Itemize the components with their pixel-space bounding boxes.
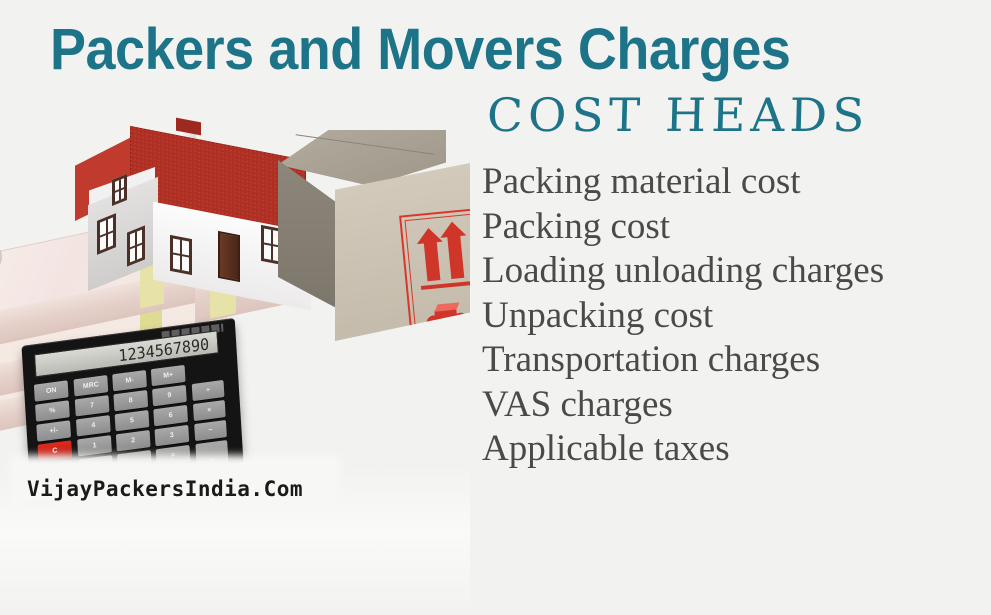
calc-key-m-[interactable]: M- <box>112 370 147 391</box>
calc-key-x[interactable]: % <box>35 400 70 421</box>
calc-key-6[interactable]: 6 <box>153 405 188 426</box>
cost-heads-list: Packing material costPacking costLoading… <box>482 160 987 472</box>
cost-head-item: VAS charges <box>482 383 987 428</box>
cost-head-item: Loading unloading charges <box>482 249 987 294</box>
calc-key-2[interactable]: 2 <box>116 430 151 451</box>
calc-key-9[interactable]: 9 <box>152 385 187 406</box>
cost-head-item: Unpacking cost <box>482 294 987 339</box>
calc-key-3[interactable]: 3 <box>155 425 190 446</box>
calc-key-x[interactable]: − <box>194 420 227 441</box>
artwork-group: 50 <box>0 110 470 505</box>
front-door <box>218 231 240 282</box>
calc-key-5[interactable]: 5 <box>115 410 150 431</box>
box-left-face <box>278 160 340 310</box>
page-title: Packers and Movers Charges <box>50 18 887 82</box>
calc-key-7[interactable]: 7 <box>75 395 110 416</box>
calc-key-mrc[interactable]: MRC <box>74 375 109 396</box>
calc-key-4[interactable]: 4 <box>76 415 111 436</box>
cost-head-item: Packing cost <box>482 205 987 250</box>
calc-key-x[interactable]: ÷ <box>192 380 225 401</box>
page-subtitle: COST HEADS <box>486 88 967 142</box>
window-front-1 <box>170 235 192 275</box>
calc-key-m+[interactable]: M+ <box>151 365 186 386</box>
calc-key-8[interactable]: 8 <box>113 390 148 411</box>
cost-head-item: Applicable taxes <box>482 427 987 472</box>
cost-head-item: Packing material cost <box>482 160 987 205</box>
calc-key-+x-[interactable]: +/- <box>36 420 71 441</box>
window-left-2 <box>127 225 145 266</box>
calculator-display-value: 1234567890 <box>118 335 210 366</box>
cardboard-box: FRAGILE HANDLE WITH CARE <box>275 130 475 365</box>
site-watermark: VijayPackersIndia.Com <box>27 477 303 501</box>
box-front-face: FRAGILE HANDLE WITH CARE <box>335 163 470 341</box>
calc-key-on[interactable]: ON <box>34 380 69 401</box>
poster-canvas: 50 <box>0 0 991 505</box>
calc-key-1[interactable]: 1 <box>77 435 112 456</box>
cost-head-item: Transportation charges <box>482 338 987 383</box>
calc-key-x[interactable]: × <box>193 400 226 421</box>
